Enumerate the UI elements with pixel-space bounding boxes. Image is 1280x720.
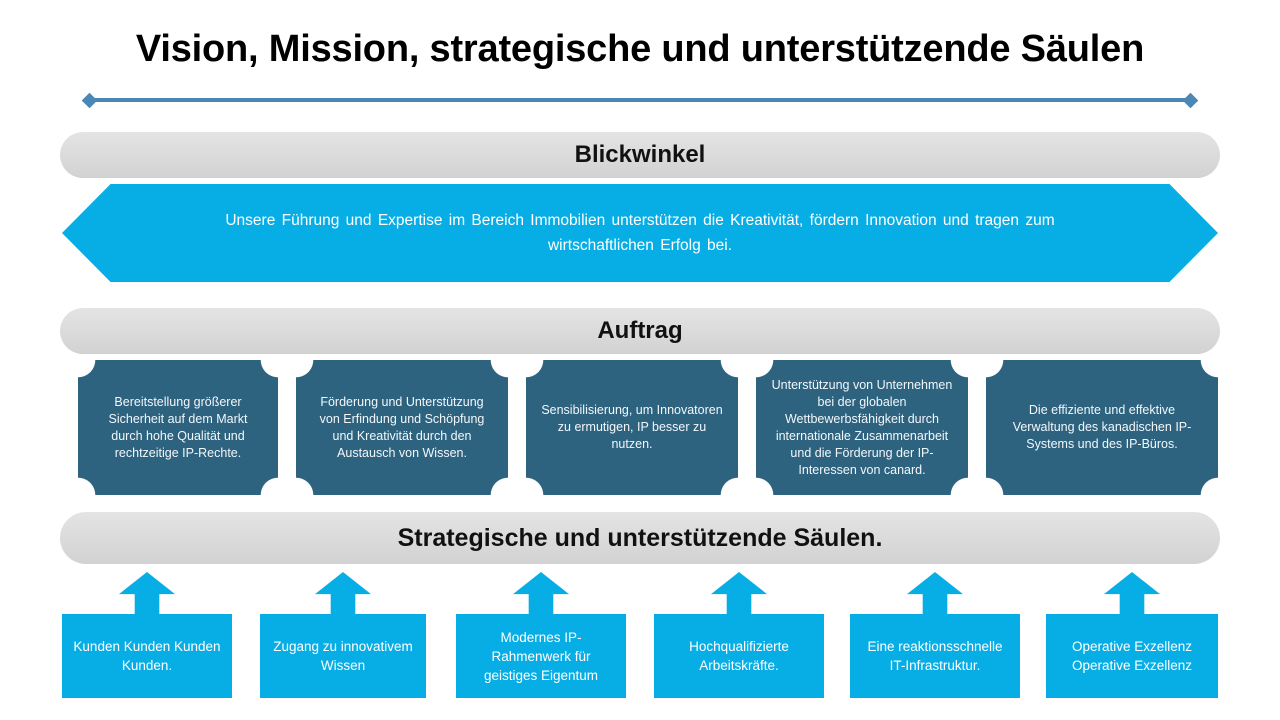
pillar-box[interactable]: Kunden Kunden Kunden Kunden.: [62, 614, 232, 698]
vision-statement-text: Unsere Führung und Expertise im Bereich …: [172, 208, 1108, 258]
mission-box-text: Sensibilisierung, um Innovatoren zu ermu…: [540, 402, 724, 453]
pillar-box[interactable]: Eine reaktionsschnelle IT-Infrastruktur.: [850, 614, 1020, 698]
mission-box-text: Die effiziente und effektive Verwaltung …: [1000, 402, 1204, 453]
up-arrow-icon: [119, 572, 175, 618]
page-title: Vision, Mission, strategische und unters…: [0, 28, 1280, 71]
mission-box-text: Unterstützung von Unternehmen bei der gl…: [770, 377, 954, 479]
pillar-box[interactable]: Hochqualifizierte Arbeitskräfte.: [654, 614, 824, 698]
up-arrow-icon: [513, 572, 569, 618]
pillar-item[interactable]: Kunden Kunden Kunden Kunden.: [62, 572, 232, 698]
pillar-box[interactable]: Operative Exzellenz Operative Exzellenz: [1046, 614, 1218, 698]
up-arrow-icon: [1104, 572, 1160, 618]
pillar-label: Kunden Kunden Kunden Kunden.: [72, 637, 222, 675]
pillar-label: Hochqualifizierte Arbeitskräfte.: [664, 637, 814, 675]
pillar-item[interactable]: Operative Exzellenz Operative Exzellenz: [1046, 572, 1218, 698]
pillar-label: Operative Exzellenz Operative Exzellenz: [1056, 637, 1208, 675]
up-arrow-icon: [315, 572, 371, 618]
section-band-pillars-label: Strategische und unterstützende Säulen.: [398, 524, 883, 553]
pillar-item[interactable]: Eine reaktionsschnelle IT-Infrastruktur.: [850, 572, 1020, 698]
vision-statement-banner: Unsere Führung und Expertise im Bereich …: [62, 184, 1218, 282]
mission-box[interactable]: Förderung und Unterstützung von Erfindun…: [296, 360, 508, 495]
section-band-perspective: Blickwinkel: [60, 132, 1220, 178]
pillar-label: Zugang zu innovativem Wissen: [270, 637, 416, 675]
pillar-label: Modernes IP-Rahmenwerk für geistiges Eig…: [466, 628, 616, 685]
section-band-pillars: Strategische und unterstützende Säulen.: [60, 512, 1220, 564]
pillar-item[interactable]: Modernes IP-Rahmenwerk für geistiges Eig…: [456, 572, 626, 698]
mission-box[interactable]: Bereitstellung größerer Sicherheit auf d…: [78, 360, 278, 495]
mission-box-text: Förderung und Unterstützung von Erfindun…: [310, 394, 494, 462]
divider-arrow-right-icon: [1183, 93, 1199, 109]
pillar-row: Kunden Kunden Kunden Kunden. Zugang zu i…: [0, 572, 1280, 720]
slide-canvas: Vision, Mission, strategische und unters…: [0, 0, 1280, 720]
pillar-item[interactable]: Hochqualifizierte Arbeitskräfte.: [654, 572, 824, 698]
mission-box[interactable]: Unterstützung von Unternehmen bei der gl…: [756, 360, 968, 495]
section-band-mission-label: Auftrag: [597, 317, 682, 345]
section-band-perspective-label: Blickwinkel: [575, 141, 706, 169]
section-band-mission: Auftrag: [60, 308, 1220, 354]
up-arrow-icon: [711, 572, 767, 618]
mission-box-text: Bereitstellung größerer Sicherheit auf d…: [92, 394, 264, 462]
mission-box[interactable]: Die effiziente und effektive Verwaltung …: [986, 360, 1218, 495]
divider-line: [88, 98, 1192, 102]
pillar-item[interactable]: Zugang zu innovativem Wissen: [260, 572, 426, 698]
pillar-box[interactable]: Modernes IP-Rahmenwerk für geistiges Eig…: [456, 614, 626, 698]
mission-box[interactable]: Sensibilisierung, um Innovatoren zu ermu…: [526, 360, 738, 495]
pillar-label: Eine reaktionsschnelle IT-Infrastruktur.: [860, 637, 1010, 675]
pillar-box[interactable]: Zugang zu innovativem Wissen: [260, 614, 426, 698]
mission-box-row: Bereitstellung größerer Sicherheit auf d…: [0, 360, 1280, 495]
up-arrow-icon: [907, 572, 963, 618]
